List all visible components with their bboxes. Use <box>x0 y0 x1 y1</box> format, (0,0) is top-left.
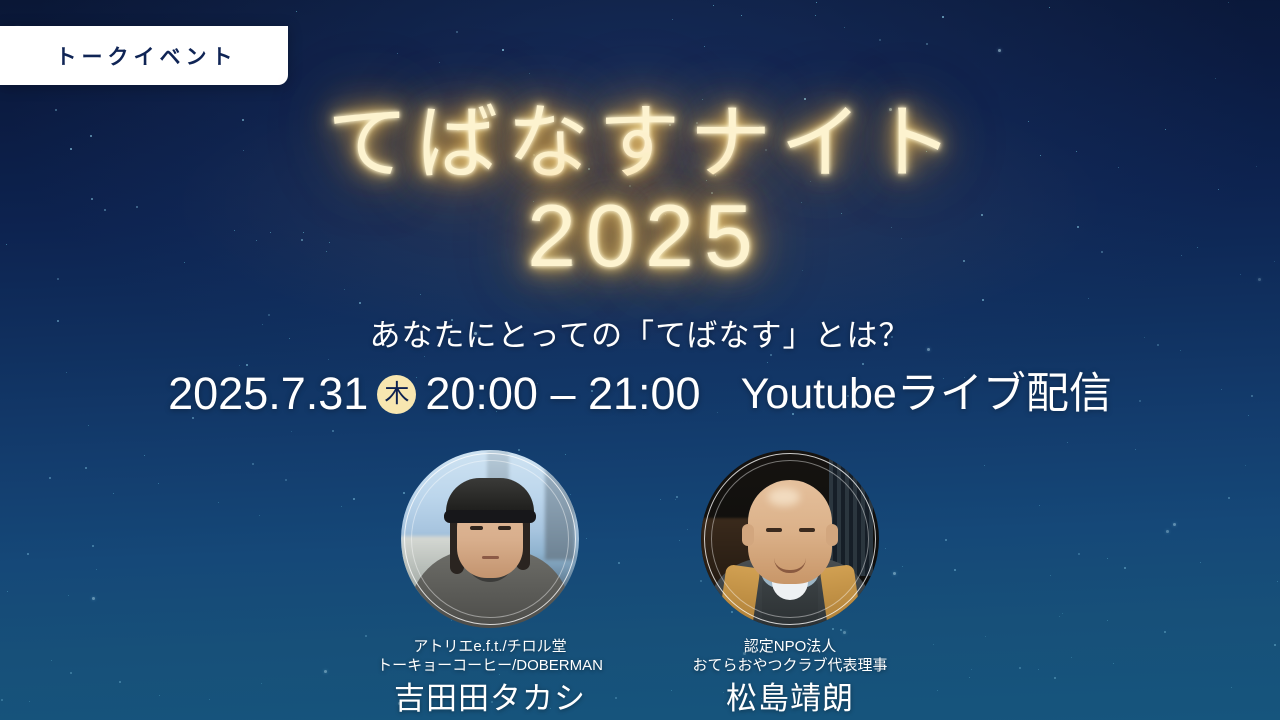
star <box>1228 2 1229 3</box>
event-poster: トークイベント てばなすナイト 2025 あなたにとっての「てばなす」とは？ 2… <box>0 0 1280 720</box>
speaker-name: 松島靖朗 <box>726 680 854 718</box>
star <box>91 198 93 200</box>
star <box>1088 298 1089 299</box>
star <box>420 294 421 295</box>
speaker-affiliation: 認定NPO法人 おてらおやつクラブ代表理事 <box>692 637 887 675</box>
star <box>344 289 345 290</box>
star <box>810 181 811 182</box>
title-glow-wash <box>180 60 1100 350</box>
star <box>234 230 235 231</box>
star <box>326 251 327 252</box>
star <box>1218 189 1219 190</box>
star <box>620 253 621 254</box>
star <box>844 27 845 28</box>
star <box>1240 274 1241 275</box>
star <box>1274 261 1275 262</box>
speaker-name: 吉田田タカシ <box>394 680 586 718</box>
star <box>55 109 57 111</box>
star <box>456 31 458 33</box>
event-title: てばなすナイト 2025 <box>0 96 1280 286</box>
star <box>741 15 742 16</box>
star <box>901 238 902 239</box>
star <box>669 124 671 126</box>
star <box>879 39 881 41</box>
star <box>982 299 984 301</box>
star <box>136 206 138 208</box>
star <box>706 180 707 181</box>
star <box>862 363 864 365</box>
star <box>256 240 257 241</box>
star <box>1215 78 1216 79</box>
star <box>816 2 817 3</box>
speaker-affiliation-line2: トーキョーコーヒー/DOBERMAN <box>377 656 603 675</box>
star <box>303 232 304 233</box>
star <box>457 129 459 131</box>
star <box>1049 7 1050 8</box>
star <box>889 108 892 111</box>
star <box>942 16 944 18</box>
star <box>841 213 842 214</box>
star <box>724 226 725 227</box>
star <box>1077 226 1079 228</box>
star <box>711 192 713 194</box>
speaker-affiliation-line1: 認定NPO法人 <box>692 637 887 656</box>
speaker-photo-matsushima <box>701 450 879 628</box>
star <box>1028 121 1029 122</box>
star <box>439 62 440 63</box>
star <box>359 302 361 304</box>
star <box>1165 129 1166 130</box>
star <box>1076 151 1077 152</box>
speaker-affiliation-line1: アトリエe.f.t./チロル堂 <box>377 637 603 656</box>
star <box>296 11 297 12</box>
star <box>696 122 698 124</box>
star <box>242 119 244 121</box>
star <box>702 99 703 100</box>
star <box>715 175 716 176</box>
star <box>533 201 534 202</box>
star <box>926 43 928 45</box>
event-subtitle: あなたにとっての「てばなす」とは？ <box>0 316 1280 356</box>
star <box>243 150 244 151</box>
star <box>246 364 248 366</box>
star <box>801 202 802 203</box>
star <box>90 135 92 137</box>
weekday-badge: 木 <box>377 375 416 414</box>
star <box>726 155 728 157</box>
star <box>713 5 714 6</box>
star <box>1258 278 1261 281</box>
star <box>715 226 716 227</box>
star <box>802 270 803 271</box>
event-title-line1: てばなすナイト <box>0 96 1280 192</box>
star <box>981 214 983 216</box>
star <box>329 242 330 243</box>
star <box>815 15 816 16</box>
star <box>1256 166 1257 167</box>
star <box>804 98 806 100</box>
star <box>291 431 292 432</box>
star <box>963 260 965 262</box>
star <box>270 232 271 233</box>
speaker-photo-yoshidada <box>401 450 579 628</box>
star <box>765 149 767 151</box>
star <box>767 362 768 363</box>
speaker-card: 認定NPO法人 おてらおやつクラブ代表理事 松島靖朗 <box>680 450 900 718</box>
star <box>328 359 329 360</box>
star <box>1118 167 1119 168</box>
broadcast-channel: Youtubeライブ配信 <box>741 368 1112 420</box>
star <box>533 154 535 156</box>
star <box>88 425 89 426</box>
event-time: 20:00 – 21:00 <box>425 368 700 420</box>
star <box>665 214 666 215</box>
event-datetime-row: 2025.7.31 木 20:00 – 21:00 Youtubeライブ配信 <box>0 368 1280 420</box>
star <box>891 227 892 228</box>
category-badge-label: トークイベント <box>51 41 238 71</box>
star <box>588 168 590 170</box>
star <box>704 46 705 47</box>
star <box>6 244 7 245</box>
star <box>1181 255 1182 256</box>
star <box>926 151 927 152</box>
star <box>184 262 185 263</box>
star <box>397 53 398 54</box>
speaker-affiliation: アトリエe.f.t./チロル堂 トーキョーコーヒー/DOBERMAN <box>377 637 603 675</box>
star <box>332 430 334 432</box>
star <box>57 278 59 280</box>
speaker-avatar <box>701 450 879 628</box>
star <box>239 365 240 366</box>
speaker-avatar <box>401 450 579 628</box>
star <box>571 264 573 266</box>
star <box>629 185 631 187</box>
star <box>301 239 303 241</box>
event-title-line2: 2025 <box>0 186 1280 286</box>
event-date: 2025.7.31 <box>168 368 368 420</box>
star <box>1197 247 1198 248</box>
speaker-affiliation-line2: おてらおやつクラブ代表理事 <box>692 656 887 675</box>
star <box>1101 251 1103 253</box>
star <box>529 73 530 74</box>
speaker-card: アトリエe.f.t./チロル堂 トーキョーコーヒー/DOBERMAN 吉田田タカ… <box>380 450 600 718</box>
star <box>104 209 106 211</box>
star <box>1040 155 1041 156</box>
star <box>998 49 1001 52</box>
star <box>502 49 504 51</box>
star <box>672 19 673 20</box>
star <box>1067 442 1068 443</box>
speaker-list: アトリエe.f.t./チロル堂 トーキョーコーヒー/DOBERMAN 吉田田タカ… <box>0 450 1280 718</box>
category-badge: トークイベント <box>0 26 288 85</box>
star <box>70 148 72 150</box>
